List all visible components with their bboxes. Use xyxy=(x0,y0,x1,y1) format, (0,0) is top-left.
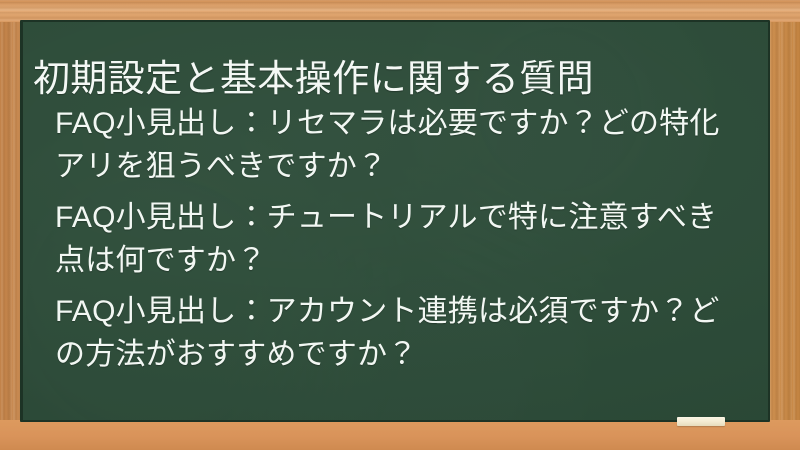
page-title: 初期設定と基本操作に関する質問 xyxy=(33,55,754,103)
list-item: FAQ小見出し：チュートリアルで特に注意すべき点は何ですか？ xyxy=(55,196,730,282)
chalkboard-surface: 初期設定と基本操作に関する質問 FAQ小見出し：リセマラは必要ですか？どの特化ア… xyxy=(23,22,768,420)
chalk-stick-icon xyxy=(677,417,725,426)
faq-list: FAQ小見出し：リセマラは必要ですか？どの特化アリを狙うべきですか？ FAQ小見… xyxy=(55,102,730,376)
list-item: FAQ小見出し：リセマラは必要ですか？どの特化アリを狙うべきですか？ xyxy=(55,102,730,188)
frame-rail-top xyxy=(0,0,800,22)
chalkboard-slide: 初期設定と基本操作に関する質問 FAQ小見出し：リセマラは必要ですか？どの特化ア… xyxy=(0,0,800,450)
list-item: FAQ小見出し：アカウント連携は必須ですか？どの方法がおすすめですか？ xyxy=(55,290,730,376)
